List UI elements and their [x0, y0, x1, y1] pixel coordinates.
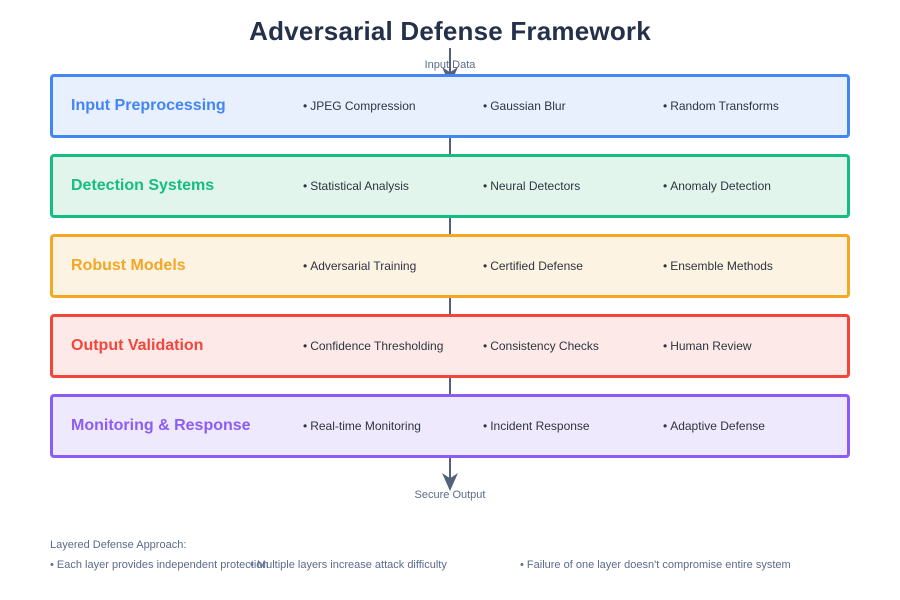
footer-note-label: Multiple layers increase attack difficul…: [257, 559, 447, 571]
layer-item[interactable]: •Gaussian Blur: [483, 99, 566, 113]
bullet-icon: •: [483, 179, 487, 193]
layer-item-label: Incident Response: [490, 419, 589, 433]
layer-item-label: Adversarial Training: [310, 259, 416, 273]
bullet-icon: •: [520, 559, 524, 571]
layer-item[interactable]: •JPEG Compression: [303, 99, 416, 113]
footer-note: • Multiple layers increase attack diffic…: [250, 559, 447, 571]
layer-item[interactable]: •Incident Response: [483, 419, 590, 433]
layer-item-label: Gaussian Blur: [490, 99, 565, 113]
layer-row-2[interactable]: Detection Systems•Statistical Analysis•N…: [50, 154, 850, 218]
layer-item[interactable]: •Human Review: [663, 339, 752, 353]
bullet-icon: •: [483, 339, 487, 353]
bullet-icon: •: [663, 99, 667, 113]
layer-item-label: Human Review: [670, 339, 751, 353]
layer-item-label: JPEG Compression: [310, 99, 415, 113]
layer-row-1[interactable]: Input Preprocessing•JPEG Compression•Gau…: [50, 74, 850, 138]
layer-item-label: Real-time Monitoring: [310, 419, 421, 433]
layer-item-list: •JPEG Compression•Gaussian Blur•Random T…: [53, 77, 847, 135]
bullet-icon: •: [250, 559, 254, 571]
layer-item[interactable]: •Statistical Analysis: [303, 179, 409, 193]
bullet-icon: •: [663, 179, 667, 193]
layer-item[interactable]: •Consistency Checks: [483, 339, 599, 353]
layer-item-label: Confidence Thresholding: [310, 339, 443, 353]
footer-note: • Each layer provides independent protec…: [50, 559, 269, 571]
layer-item-label: Ensemble Methods: [670, 259, 773, 273]
bullet-icon: •: [303, 339, 307, 353]
bullet-icon: •: [303, 419, 307, 433]
layer-item-label: Neural Detectors: [490, 179, 580, 193]
layer-row-5[interactable]: Monitoring & Response•Real-time Monitori…: [50, 394, 850, 458]
footer-note: • Failure of one layer doesn't compromis…: [520, 559, 791, 571]
layer-item[interactable]: •Adversarial Training: [303, 259, 416, 273]
layer-item-label: Statistical Analysis: [310, 179, 409, 193]
layer-item[interactable]: •Anomaly Detection: [663, 179, 771, 193]
bullet-icon: •: [303, 259, 307, 273]
input-data-label: Input Data: [0, 59, 900, 71]
layer-item[interactable]: •Confidence Thresholding: [303, 339, 443, 353]
layer-item[interactable]: •Certified Defense: [483, 259, 583, 273]
layer-item[interactable]: •Ensemble Methods: [663, 259, 773, 273]
layer-item-list: •Adversarial Training•Certified Defense•…: [53, 237, 847, 295]
page-title: Adversarial Defense Framework: [0, 16, 900, 47]
bullet-icon: •: [483, 99, 487, 113]
bullet-icon: •: [50, 559, 54, 571]
bullet-icon: •: [303, 179, 307, 193]
secure-output-label: Secure Output: [0, 489, 900, 501]
layer-item[interactable]: •Adaptive Defense: [663, 419, 765, 433]
bullet-icon: •: [663, 419, 667, 433]
layer-item-label: Consistency Checks: [490, 339, 599, 353]
bullet-icon: •: [483, 259, 487, 273]
layer-item-label: Adaptive Defense: [670, 419, 765, 433]
layer-item[interactable]: •Random Transforms: [663, 99, 779, 113]
bullet-icon: •: [483, 419, 487, 433]
layer-item-list: •Confidence Thresholding•Consistency Che…: [53, 317, 847, 375]
layer-item-label: Certified Defense: [490, 259, 583, 273]
layer-item-list: •Statistical Analysis•Neural Detectors•A…: [53, 157, 847, 215]
footer-note-label: Each layer provides independent protecti…: [57, 559, 269, 571]
diagram-canvas: Adversarial Defense Framework Input Data…: [0, 0, 900, 600]
layer-item-label: Anomaly Detection: [670, 179, 771, 193]
layer-row-4[interactable]: Output Validation•Confidence Thresholdin…: [50, 314, 850, 378]
layer-item[interactable]: •Neural Detectors: [483, 179, 580, 193]
bullet-icon: •: [663, 259, 667, 273]
layer-item[interactable]: •Real-time Monitoring: [303, 419, 421, 433]
layer-item-list: •Real-time Monitoring•Incident Response•…: [53, 397, 847, 455]
layer-item-label: Random Transforms: [670, 99, 779, 113]
footer-note-label: Failure of one layer doesn't compromise …: [527, 559, 791, 571]
layer-row-3[interactable]: Robust Models•Adversarial Training•Certi…: [50, 234, 850, 298]
bullet-icon: •: [303, 99, 307, 113]
bullet-icon: •: [663, 339, 667, 353]
footer-heading: Layered Defense Approach:: [50, 539, 186, 551]
